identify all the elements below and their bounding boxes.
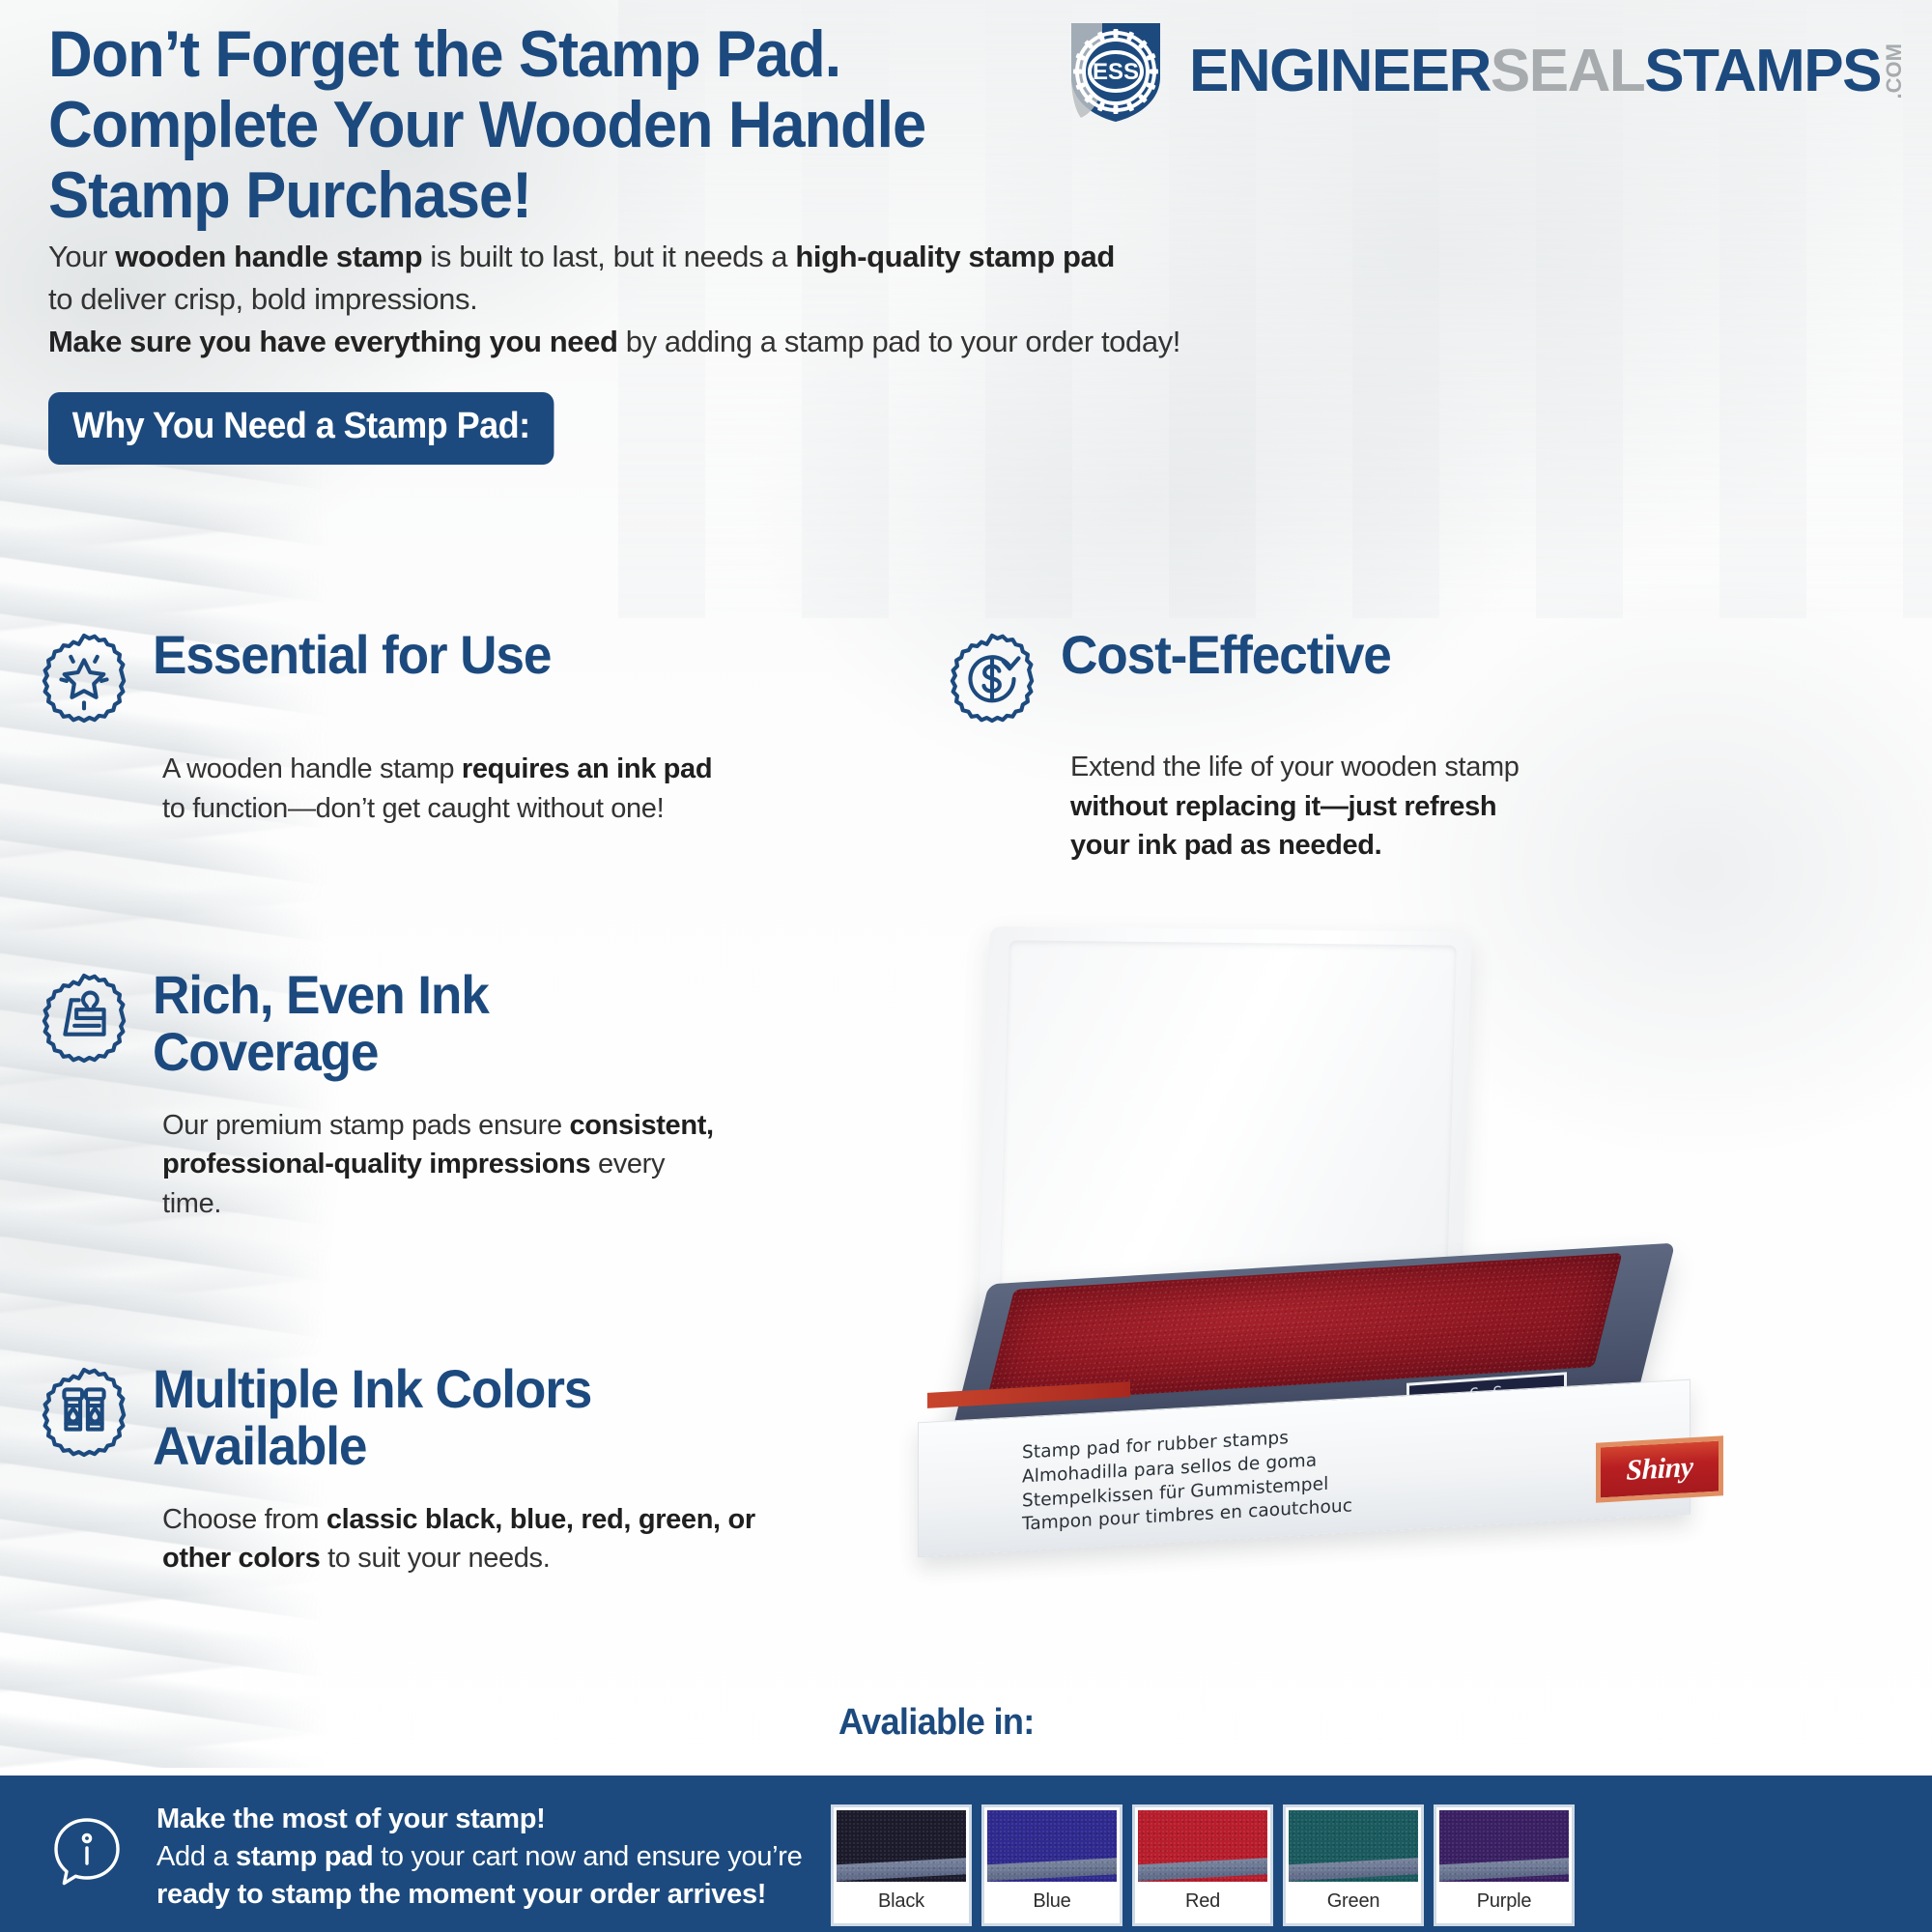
swatch-label: Red [1138, 1882, 1267, 1920]
wordmark-stamps: STAMPS [1644, 42, 1881, 101]
feature-heading-row: Multiple Ink Colors Available [37, 1360, 829, 1475]
stamp-badge-icon [37, 970, 131, 1065]
brand-wordmark: ENGINEERSEALSTAMPS.COM [1189, 42, 1905, 101]
feature-body: Choose from classic black, blue, red, gr… [162, 1500, 800, 1578]
headline-line-3: Stamp Purchase! [48, 160, 1126, 231]
infographic-page: Don’t Forget the Stamp Pad. Complete You… [0, 0, 1932, 1932]
feature-title: Essential for Use [153, 626, 551, 683]
swatch-color-area [1289, 1810, 1418, 1882]
swatch-color-area [837, 1810, 966, 1882]
shiny-brand-text: Shiny [1626, 1451, 1692, 1488]
wordmark-tld: .COM [1884, 43, 1905, 99]
intro-line-1: Your wooden handle stamp is built to las… [48, 236, 1420, 278]
swatch-color-area [1138, 1810, 1267, 1882]
feature-heading-row: Essential for Use [37, 626, 752, 724]
swatch-label: Blue [987, 1882, 1117, 1920]
feature-essential-for-use: Essential for Use A wooden handle stamp … [37, 626, 752, 828]
swatch-label: Black [837, 1882, 966, 1920]
feature-rich-even-ink-coverage: Rich, Even Ink Coverage Our premium stam… [37, 966, 752, 1224]
header: Don’t Forget the Stamp Pad. Complete You… [0, 0, 1932, 232]
wordmark-engineer: ENGINEER [1189, 42, 1491, 101]
footer-text: Make the most of your stamp! Add a stamp… [156, 1801, 833, 1914]
swatch-green[interactable]: Green [1283, 1804, 1424, 1926]
feature-title: Cost-Effective [1061, 626, 1391, 683]
swatch-color-area [987, 1810, 1117, 1882]
product-photo-stamp-pad: C·S Stamp pad for rubber stamps Almohadi… [860, 927, 1845, 1526]
ink-color-swatch-list: Black Blue Red Green Purple [831, 1804, 1575, 1926]
swatch-black[interactable]: Black [831, 1804, 972, 1926]
feature-title: Multiple Ink Colors Available [153, 1360, 685, 1475]
dollar-check-badge-icon [945, 630, 1039, 724]
intro-line-2: to deliver crisp, bold impressions. [48, 278, 1420, 321]
headline-line-2: Complete Your Wooden Handle [48, 90, 1126, 160]
feature-heading-row: Cost-Effective [945, 626, 1891, 724]
intro-line-3: Make sure you have everything you need b… [48, 321, 1420, 363]
feature-heading-row: Rich, Even Ink Coverage [37, 966, 752, 1081]
ink-bottles-badge-icon [37, 1364, 131, 1459]
intro-paragraph: Your wooden handle stamp is built to las… [48, 236, 1420, 363]
headline-line-1: Don’t Forget the Stamp Pad. [48, 19, 1126, 90]
star-badge-icon [37, 630, 131, 724]
section-banner-label: Why You Need a Stamp Pad: [72, 406, 530, 446]
svg-text:ESS: ESS [1093, 59, 1139, 85]
feature-cost-effective: Cost-Effective Extend the life of your w… [945, 626, 1891, 866]
swatch-label: Green [1289, 1882, 1418, 1920]
page-title: Don’t Forget the Stamp Pad. Complete You… [48, 19, 1126, 230]
shiny-brand-logo: Shiny [1596, 1435, 1723, 1502]
footer-line-3: ready to stamp the moment your order arr… [156, 1876, 833, 1914]
feature-body: Extend the life of your wooden stamp wit… [945, 748, 1563, 866]
feature-body: Our premium stamp pads ensure consistent… [162, 1106, 723, 1224]
section-banner: Why You Need a Stamp Pad: [48, 392, 554, 465]
swatch-red[interactable]: Red [1132, 1804, 1273, 1926]
ess-shield-gear-icon: ESS [1058, 17, 1174, 126]
swatch-label: Purple [1439, 1882, 1569, 1920]
footer-line-2: Add a stamp pad to your cart now and ens… [156, 1838, 833, 1876]
wordmark-seal: SEAL [1491, 42, 1644, 101]
feature-multiple-ink-colors: Multiple Ink Colors Available Choose fro… [37, 1360, 829, 1578]
brand-logo[interactable]: ESS [1058, 17, 1905, 126]
available-in-label: Avaliable in: [838, 1702, 1035, 1744]
feature-body: A wooden handle stamp requires an ink pa… [162, 750, 742, 828]
footer-line-1: Make the most of your stamp! [156, 1801, 833, 1838]
swatch-blue[interactable]: Blue [981, 1804, 1122, 1926]
swatch-color-area [1439, 1810, 1569, 1882]
swatch-purple[interactable]: Purple [1434, 1804, 1575, 1926]
feature-title: Rich, Even Ink Coverage [153, 966, 593, 1081]
info-speech-bubble-icon [46, 1812, 128, 1893]
